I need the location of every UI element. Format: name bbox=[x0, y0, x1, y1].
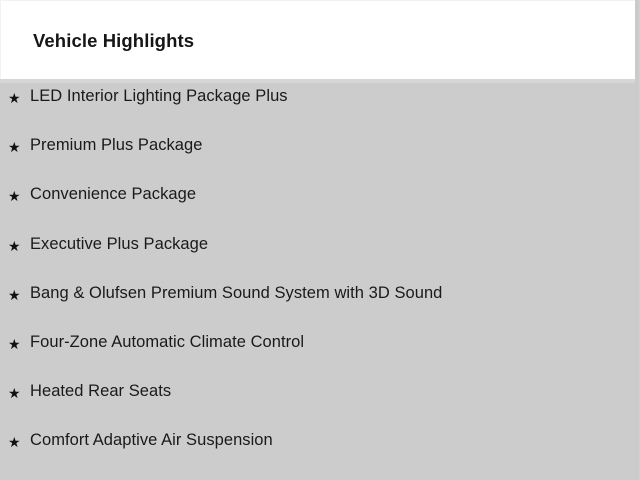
list-item-label: Heated Rear Seats bbox=[30, 381, 640, 402]
list-item: ★ Convenience Package bbox=[0, 181, 640, 230]
list-item-label: Premium Plus Package bbox=[30, 135, 640, 156]
star-icon: ★ bbox=[8, 89, 19, 107]
list-item-label: LED Interior Lighting Package Plus bbox=[30, 86, 640, 107]
list-item: ★ Comfort Adaptive Air Suspension bbox=[0, 427, 640, 476]
list-item: ★ Executive Plus Package bbox=[0, 231, 640, 280]
star-icon: ★ bbox=[8, 286, 19, 304]
star-icon: ★ bbox=[8, 433, 19, 451]
list-item: ★ LED Interior Lighting Package Plus bbox=[0, 83, 640, 132]
star-icon: ★ bbox=[8, 138, 19, 156]
list-item: ★ Premium Plus Package bbox=[0, 132, 640, 181]
list-item-label: Comfort Adaptive Air Suspension bbox=[30, 430, 640, 451]
card-header: Vehicle Highlights bbox=[0, 0, 640, 79]
list-item-label: Four-Zone Automatic Climate Control bbox=[30, 332, 640, 353]
page-title: Vehicle Highlights bbox=[33, 30, 194, 52]
list-item: ★ Heated Rear Seats bbox=[0, 378, 640, 427]
list-item-label: Executive Plus Package bbox=[30, 234, 640, 255]
list-item-label: Convenience Package bbox=[30, 184, 640, 205]
list-item: ★ Bang & Olufsen Premium Sound System wi… bbox=[0, 280, 640, 329]
list-item: ★ Four-Zone Automatic Climate Control bbox=[0, 329, 640, 378]
star-icon: ★ bbox=[8, 237, 19, 255]
star-icon: ★ bbox=[8, 384, 19, 402]
star-icon: ★ bbox=[8, 187, 19, 205]
star-icon: ★ bbox=[8, 335, 19, 353]
vehicle-highlights-card: Vehicle Highlights ★ LED Interior Lighti… bbox=[0, 0, 640, 480]
highlights-body: ★ LED Interior Lighting Package Plus ★ P… bbox=[0, 83, 640, 480]
list-item-label: Bang & Olufsen Premium Sound System with… bbox=[30, 283, 640, 304]
vehicle-highlights-list: ★ LED Interior Lighting Package Plus ★ P… bbox=[0, 83, 640, 477]
